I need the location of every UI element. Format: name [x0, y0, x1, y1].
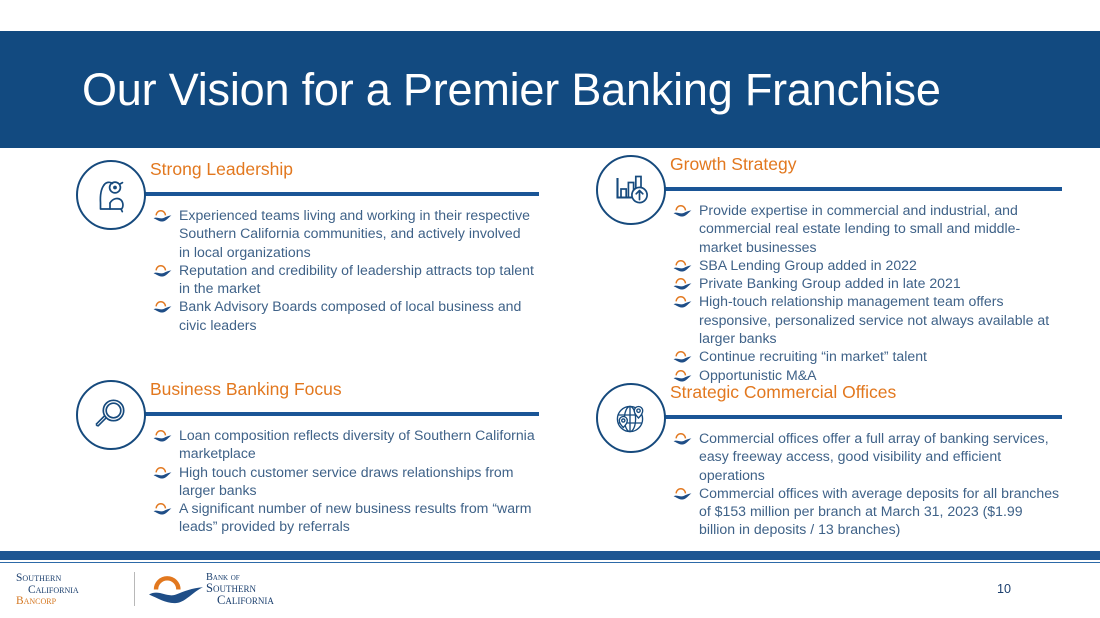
footer-divider-line: [0, 562, 1100, 563]
section-rule: [634, 415, 1062, 419]
southern-california-bancorp-logo: Southern California Bancorp: [16, 573, 122, 608]
page-number: 10: [997, 582, 1011, 596]
page-title: Our Vision for a Premier Banking Franchi…: [82, 64, 941, 116]
sun-wave-bullet-icon: [153, 209, 172, 222]
logo-line-1: Southern: [16, 573, 122, 585]
sun-wave-bullet-icon: [153, 429, 172, 442]
bullet-list: Experienced teams living and working in …: [153, 206, 535, 334]
logo-separator: [134, 572, 135, 606]
list-item: Continue recruiting “in market” talent: [673, 347, 1061, 365]
sun-wave-bullet-icon: [673, 204, 692, 217]
magnifying-glass-icon: [76, 380, 146, 450]
list-item-text: A significant number of new business res…: [179, 500, 531, 534]
sun-wave-bullet-icon: [673, 350, 692, 363]
bullet-list: Provide expertise in commercial and indu…: [673, 201, 1061, 384]
list-item: Bank Advisory Boards composed of local b…: [153, 297, 535, 334]
section-rule: [114, 412, 539, 416]
list-item-text: SBA Lending Group added in 2022: [699, 257, 917, 273]
list-item-text: High-touch relationship management team …: [699, 293, 1049, 346]
list-item: Experienced teams living and working in …: [153, 206, 535, 261]
section-title: Strong Leadership: [150, 158, 293, 180]
list-item-text: Commercial offices with average deposits…: [699, 485, 1059, 538]
section-title: Business Banking Focus: [150, 378, 342, 400]
list-item-text: Provide expertise in commercial and indu…: [699, 202, 1020, 255]
logo-line-3: California: [206, 595, 274, 606]
section-heading-wrap: Business Banking Focus: [150, 378, 342, 400]
list-item: Provide expertise in commercial and indu…: [673, 201, 1061, 256]
footer-bar: [0, 551, 1100, 560]
list-item: High touch customer service draws relati…: [153, 463, 535, 500]
list-item: Private Banking Group added in late 2021: [673, 274, 1061, 292]
sun-wave-bullet-icon: [673, 259, 692, 272]
sun-wave-logo-mark: [148, 574, 204, 609]
list-item-text: High touch customer service draws relati…: [179, 464, 513, 498]
section-rule: [634, 187, 1062, 191]
list-item: Commercial offices with average deposits…: [673, 484, 1061, 539]
section-rule: [114, 192, 539, 196]
globe-location-pins-icon: [596, 383, 666, 453]
sun-wave-bullet-icon: [673, 487, 692, 500]
list-item-text: Bank Advisory Boards composed of local b…: [179, 298, 521, 332]
list-item: Commercial offices offer a full array of…: [673, 429, 1061, 484]
sun-wave-bullet-icon: [673, 295, 692, 308]
section-title: Strategic Commercial Offices: [670, 381, 896, 403]
sun-wave-bullet-icon: [673, 369, 692, 382]
sun-wave-bullet-icon: [153, 466, 172, 479]
list-item: A significant number of new business res…: [153, 499, 535, 536]
sun-wave-bullet-icon: [153, 300, 172, 313]
list-item: SBA Lending Group added in 2022: [673, 256, 1061, 274]
bank-logo-text: Bank of Southern California: [206, 572, 274, 606]
bullet-list: Commercial offices offer a full array of…: [673, 429, 1061, 539]
list-item: Reputation and credibility of leadership…: [153, 261, 535, 298]
list-item: High-touch relationship management team …: [673, 292, 1061, 347]
sun-wave-bullet-icon: [673, 432, 692, 445]
list-item-text: Continue recruiting “in market” talent: [699, 348, 927, 364]
bar-chart-up-arrow-icon: [596, 155, 666, 225]
list-item-text: Experienced teams living and working in …: [179, 207, 530, 260]
list-item-text: Loan composition reflects diversity of S…: [179, 427, 535, 461]
sun-wave-bullet-icon: [673, 277, 692, 290]
slide-root: Our Vision for a Premier Banking Franchi…: [0, 0, 1100, 618]
flexed-bicep-icon: [76, 160, 146, 230]
list-item-text: Private Banking Group added in late 2021: [699, 275, 961, 291]
bullet-list: Loan composition reflects diversity of S…: [153, 426, 535, 536]
sun-wave-bullet-icon: [153, 502, 172, 515]
sun-wave-bullet-icon: [153, 264, 172, 277]
section-heading-wrap: Strategic Commercial Offices: [670, 381, 896, 403]
logo-line-3: Bancorp: [16, 596, 122, 608]
list-item-text: Commercial offices offer a full array of…: [699, 430, 1049, 483]
section-heading-wrap: Strong Leadership: [150, 158, 293, 180]
list-item: Loan composition reflects diversity of S…: [153, 426, 535, 463]
list-item-text: Reputation and credibility of leadership…: [179, 262, 534, 296]
section-heading-wrap: Growth Strategy: [670, 153, 796, 175]
section-title: Growth Strategy: [670, 153, 796, 175]
